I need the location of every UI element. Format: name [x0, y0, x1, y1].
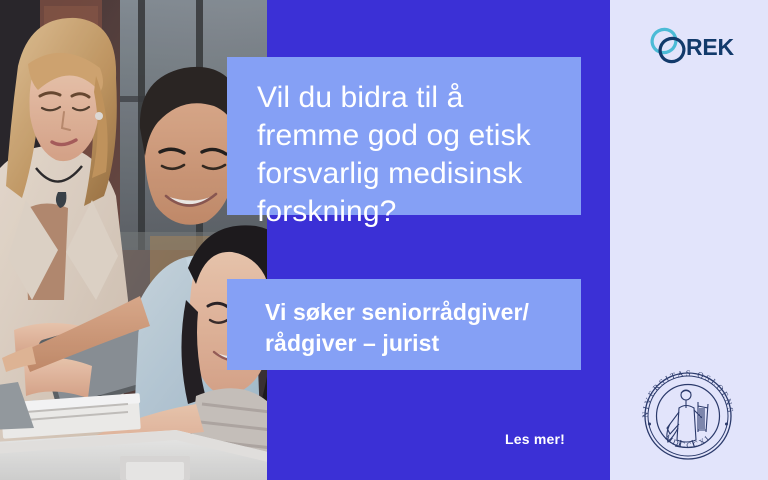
headline-text: Vil du bidra til å fremme god og etisk f… [257, 79, 555, 231]
rek-rings-icon [648, 26, 690, 68]
rek-logo[interactable]: REK [648, 26, 738, 68]
job-title-box: Vi søker seniorrådgiver/ rådgiver – juri… [227, 279, 581, 370]
uio-seal-icon: UNIVERSITAS OSLOENSIS MDCCCXI [634, 362, 742, 470]
rek-wordmark: REK [686, 34, 734, 61]
job-title-text: Vi søker seniorrådgiver/ rådgiver – juri… [265, 297, 555, 359]
read-more-link[interactable]: Les mer! [505, 431, 565, 447]
headline-box: Vil du bidra til å fremme god og etisk f… [227, 57, 581, 215]
recruitment-banner: Vil du bidra til å fremme god og etisk f… [0, 0, 768, 480]
uio-seal: UNIVERSITAS OSLOENSIS MDCCCXI [634, 362, 742, 470]
